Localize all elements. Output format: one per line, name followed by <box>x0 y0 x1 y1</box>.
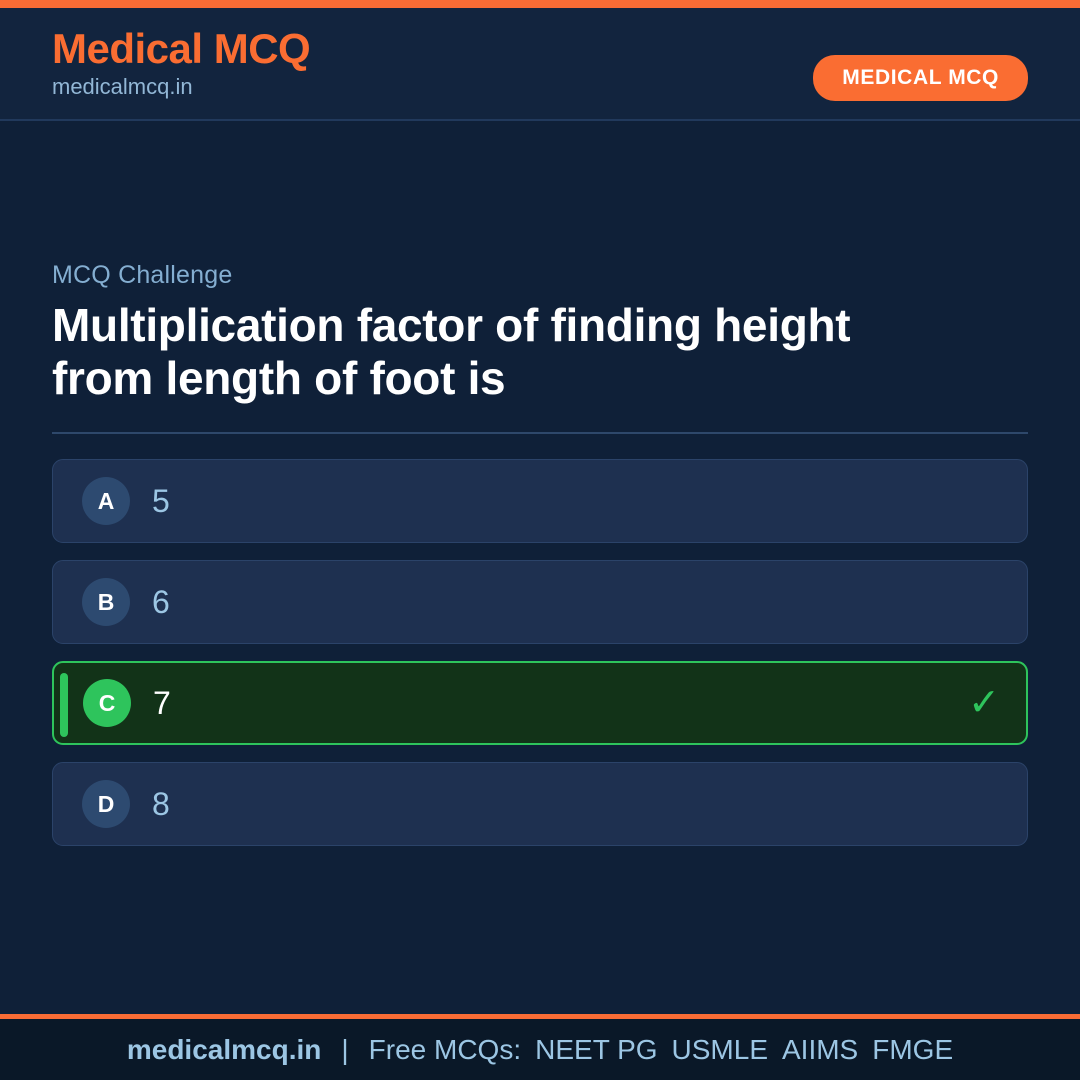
option-text: 6 <box>152 586 170 618</box>
mcq-card: Medical MCQ medicalmcq.in MEDICAL MCQ MC… <box>0 0 1080 1080</box>
eyebrow-label: MCQ Challenge <box>52 261 1028 290</box>
footer-site: medicalmcq.in <box>127 1034 322 1066</box>
option-text: 5 <box>152 485 170 517</box>
footer-exam: NEET PG <box>535 1034 657 1066</box>
question-divider <box>52 432 1028 434</box>
brand-subtitle: medicalmcq.in <box>52 73 310 101</box>
option-text: 8 <box>152 788 170 820</box>
header-badge: MEDICAL MCQ <box>813 55 1028 101</box>
top-accent-strip <box>0 0 1080 8</box>
option-letter-badge: C <box>83 679 131 727</box>
option-d[interactable]: D 8 <box>52 762 1028 846</box>
option-letter-badge: A <box>82 477 130 525</box>
question-text: Multiplication factor of finding height … <box>52 299 952 406</box>
correct-accent-bar <box>60 673 68 737</box>
footer-prefix: Free MCQs: <box>369 1034 521 1066</box>
footer: medicalmcq.in | Free MCQs: NEET PG USMLE… <box>0 1014 1080 1080</box>
main-content: MCQ Challenge Multiplication factor of f… <box>0 121 1080 1014</box>
footer-exam: AIIMS <box>782 1034 858 1066</box>
check-icon: ✓ <box>968 684 1000 722</box>
options-list: A 5 B 6 C 7 ✓ D <box>52 459 1028 846</box>
option-b[interactable]: B 6 <box>52 560 1028 644</box>
option-a[interactable]: A 5 <box>52 459 1028 543</box>
option-letter-badge: D <box>82 780 130 828</box>
brand-title: Medical MCQ <box>52 27 310 71</box>
header: Medical MCQ medicalmcq.in MEDICAL MCQ <box>0 8 1080 121</box>
footer-separator: | <box>335 1034 354 1066</box>
option-c[interactable]: C 7 ✓ <box>52 661 1028 745</box>
footer-exam: USMLE <box>672 1034 768 1066</box>
brand: Medical MCQ medicalmcq.in <box>52 27 310 101</box>
footer-exam-list: NEET PG USMLE AIIMS FMGE <box>535 1034 953 1066</box>
option-letter-badge: B <box>82 578 130 626</box>
option-text: 7 <box>153 687 171 719</box>
footer-exam: FMGE <box>872 1034 953 1066</box>
